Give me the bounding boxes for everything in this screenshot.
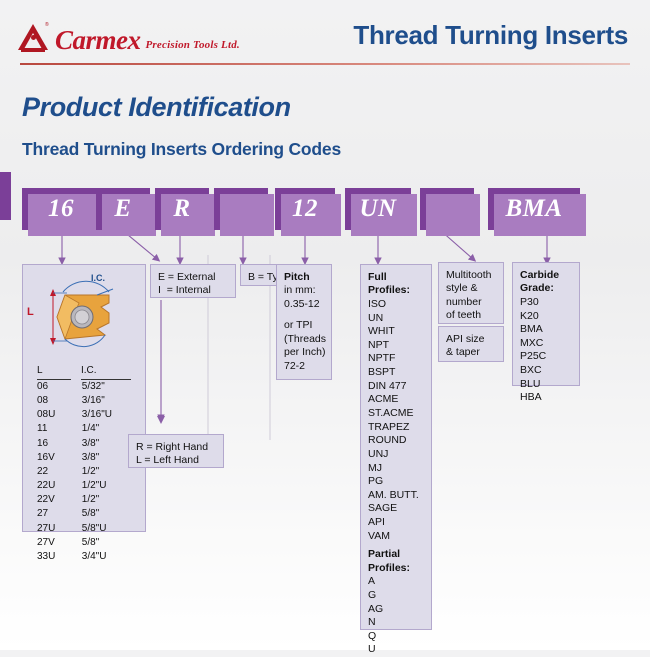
- callout-profiles: Full Profiles: ISOUNWHITNPTNPTFBSPTDIN 4…: [360, 264, 432, 630]
- carbide-title-1: Carbide: [520, 269, 573, 282]
- profile-item: DIN 477: [368, 380, 425, 394]
- code-box-size-value: 16: [22, 188, 100, 230]
- carbide-title-2: Grade:: [520, 282, 573, 295]
- code-box-hand-value: R: [155, 188, 209, 230]
- size-table-row: 221/2": [33, 465, 133, 479]
- profile-item: ACME: [368, 393, 425, 407]
- partial-profiles-title-1: Partial: [368, 548, 425, 561]
- size-ic: 3/16": [82, 394, 133, 408]
- size-table: L I.C. 065/32"083/16"08U3/16"U111/4"163/…: [33, 365, 133, 564]
- size-table-row: 083/16": [33, 394, 133, 408]
- size-l: 11: [37, 422, 72, 436]
- size-ic: 5/8": [82, 536, 133, 550]
- profile-item: AM. BUTT.: [368, 489, 425, 503]
- carmex-emblem-icon: ®: [18, 22, 50, 54]
- callout-carbide: Carbide Grade: P30K20BMAMXCP25CBXCBLUHBA: [512, 262, 580, 386]
- carbide-grade-item: P25C: [520, 350, 573, 364]
- callout-pitch: Pitch in mm: 0.35-12 or TPI (Threads per…: [276, 264, 332, 380]
- page-title: Product Identification: [22, 92, 291, 123]
- size-l: 27U: [37, 522, 72, 536]
- carbide-grade-item: BXC: [520, 364, 573, 378]
- size-l: 16: [37, 437, 72, 451]
- size-ic: 1/2"U: [82, 479, 133, 493]
- profile-item: VAM: [368, 530, 425, 544]
- code-box-profile[interactable]: UN: [345, 188, 411, 230]
- label-ic: I.C.: [91, 273, 105, 285]
- api-line-2: & taper: [446, 346, 497, 359]
- partial-profile-item: A: [368, 575, 425, 589]
- profile-item: MJ: [368, 462, 425, 476]
- size-l: 33U: [37, 550, 72, 564]
- partial-profile-item: AG: [368, 603, 425, 617]
- size-table-header-ic: I.C.: [81, 365, 131, 380]
- hand-type-line-1: E = External: [158, 271, 229, 284]
- size-table-row: 33U3/4"U: [33, 550, 133, 564]
- size-l: 27V: [37, 536, 72, 550]
- profile-item: NPTF: [368, 352, 425, 366]
- profile-item: ISO: [368, 298, 425, 312]
- carbide-grade-item: MXC: [520, 337, 573, 351]
- pitch-tpi-line-3: per Inch): [284, 346, 325, 359]
- size-l: 22: [37, 465, 72, 479]
- code-box-multitooth[interactable]: [420, 188, 474, 230]
- multitooth-line-4: of teeth: [446, 309, 497, 322]
- code-box-pitch[interactable]: 12: [275, 188, 335, 230]
- size-l: 16V: [37, 451, 72, 465]
- brand-subtitle: Precision Tools Ltd.: [146, 40, 240, 54]
- code-box-multitooth-value: [420, 188, 474, 230]
- size-ic: 1/2": [82, 493, 133, 507]
- code-box-hand-type-value: E: [96, 188, 150, 230]
- partial-profiles-title-2: Profiles:: [368, 562, 425, 575]
- header-title: Thread Turning Inserts: [353, 20, 628, 51]
- size-ic: 5/32": [82, 380, 133, 394]
- profile-item: TRAPEZ: [368, 421, 425, 435]
- size-ic: 3/4"U: [82, 550, 133, 564]
- pitch-line-2: 0.35-12: [284, 298, 325, 311]
- carbide-grade-item: BLU: [520, 378, 573, 392]
- size-table-row: 275/8": [33, 507, 133, 521]
- left-accent-bar: [0, 172, 11, 220]
- code-box-carbide[interactable]: BMA: [488, 188, 580, 230]
- size-ic: 1/4": [82, 422, 133, 436]
- callout-hand-type: E = External I = Internal: [150, 264, 236, 298]
- size-table-row: 22V1/2": [33, 493, 133, 507]
- partial-profile-item: U: [368, 643, 425, 657]
- carmex-logo: ® Carmex Precision Tools Ltd.: [18, 22, 240, 54]
- profile-item: BSPT: [368, 366, 425, 380]
- brand-name: Carmex: [55, 27, 141, 54]
- code-box-hand[interactable]: R: [155, 188, 209, 230]
- size-l: 06: [37, 380, 72, 394]
- size-ic: 3/8": [82, 451, 133, 465]
- profile-item: PG: [368, 475, 425, 489]
- code-box-hand-type[interactable]: E: [96, 188, 150, 230]
- page-header: ® Carmex Precision Tools Ltd. Thread Tur…: [0, 0, 650, 70]
- size-table-row: 27V5/8": [33, 536, 133, 550]
- profile-item: ROUND: [368, 434, 425, 448]
- callout-api: API size & taper: [438, 326, 504, 362]
- profile-item: ST.ACME: [368, 407, 425, 421]
- insert-drawing: [35, 273, 135, 359]
- callout-size: I.C. L L I.C. 065/32"083/16"08U3/16"U111…: [22, 264, 146, 532]
- pitch-tpi-line-2: (Threads: [284, 333, 325, 346]
- hand-line-1: R = Right Hand: [136, 441, 217, 454]
- carbide-grade-item: P30: [520, 296, 573, 310]
- profile-item: UNJ: [368, 448, 425, 462]
- size-l: 27: [37, 507, 72, 521]
- size-table-header-l: L: [37, 365, 71, 380]
- code-box-type-value: [214, 188, 268, 230]
- size-l: 08: [37, 394, 72, 408]
- code-box-carbide-value: BMA: [488, 188, 580, 230]
- code-box-profile-value: UN: [345, 188, 411, 230]
- code-box-size[interactable]: 16: [22, 188, 100, 230]
- size-l: 08U: [37, 408, 72, 422]
- code-box-pitch-value: 12: [275, 188, 335, 230]
- header-divider: [20, 63, 630, 65]
- size-table-header: L I.C.: [33, 365, 133, 380]
- size-table-row: 163/8": [33, 437, 133, 451]
- page-root: ® Carmex Precision Tools Ltd. Thread Tur…: [0, 0, 650, 650]
- size-ic: 3/16"U: [82, 408, 133, 422]
- full-profiles-list: ISOUNWHITNPTNPTFBSPTDIN 477ACMEST.ACMETR…: [368, 298, 425, 544]
- page-subtitle: Thread Turning Inserts Ordering Codes: [22, 139, 341, 160]
- profile-item: NPT: [368, 339, 425, 353]
- profile-item: SAGE: [368, 502, 425, 516]
- label-l: L: [27, 305, 34, 319]
- api-line-1: API size: [446, 333, 497, 346]
- size-table-row: 065/32": [33, 380, 133, 394]
- pitch-title: Pitch: [284, 271, 325, 284]
- size-table-row: 16V3/8": [33, 451, 133, 465]
- size-ic: 3/8": [82, 437, 133, 451]
- pitch-line-1: in mm:: [284, 284, 325, 297]
- size-table-row: 08U3/16"U: [33, 408, 133, 422]
- partial-profile-item: Q: [368, 630, 425, 644]
- profile-item: API: [368, 516, 425, 530]
- size-table-row: 22U1/2"U: [33, 479, 133, 493]
- pitch-tpi-line-1: or TPI: [284, 319, 325, 332]
- size-ic: 1/2": [82, 465, 133, 479]
- carbide-grade-item: K20: [520, 310, 573, 324]
- size-table-row: 111/4": [33, 422, 133, 436]
- carbide-grade-list: P30K20BMAMXCP25CBXCBLUHBA: [520, 296, 573, 405]
- carbide-grade-item: BMA: [520, 323, 573, 337]
- carbide-grade-item: HBA: [520, 391, 573, 405]
- partial-profiles-list: AGAGNQU: [368, 575, 425, 657]
- full-profiles-title-1: Full: [368, 271, 425, 284]
- size-l: 22U: [37, 479, 72, 493]
- multitooth-line-1: Multitooth: [446, 269, 497, 282]
- partial-profile-item: N: [368, 616, 425, 630]
- partial-profile-item: G: [368, 589, 425, 603]
- size-table-row: 27U5/8"U: [33, 522, 133, 536]
- size-ic: 5/8": [82, 507, 133, 521]
- callout-hand: R = Right Hand L = Left Hand: [128, 434, 224, 468]
- size-ic: 5/8"U: [82, 522, 133, 536]
- multitooth-line-3: number: [446, 296, 497, 309]
- profile-item: WHIT: [368, 325, 425, 339]
- hand-line-2: L = Left Hand: [136, 454, 217, 467]
- multitooth-line-2: style &: [446, 282, 497, 295]
- code-box-type[interactable]: [214, 188, 268, 230]
- size-l: 22V: [37, 493, 72, 507]
- hand-type-line-2: I = Internal: [158, 284, 229, 297]
- full-profiles-title-2: Profiles:: [368, 284, 425, 297]
- profile-item: UN: [368, 312, 425, 326]
- callout-multitooth: Multitooth style & number of teeth: [438, 262, 504, 324]
- pitch-tpi-line-4: 72-2: [284, 360, 325, 373]
